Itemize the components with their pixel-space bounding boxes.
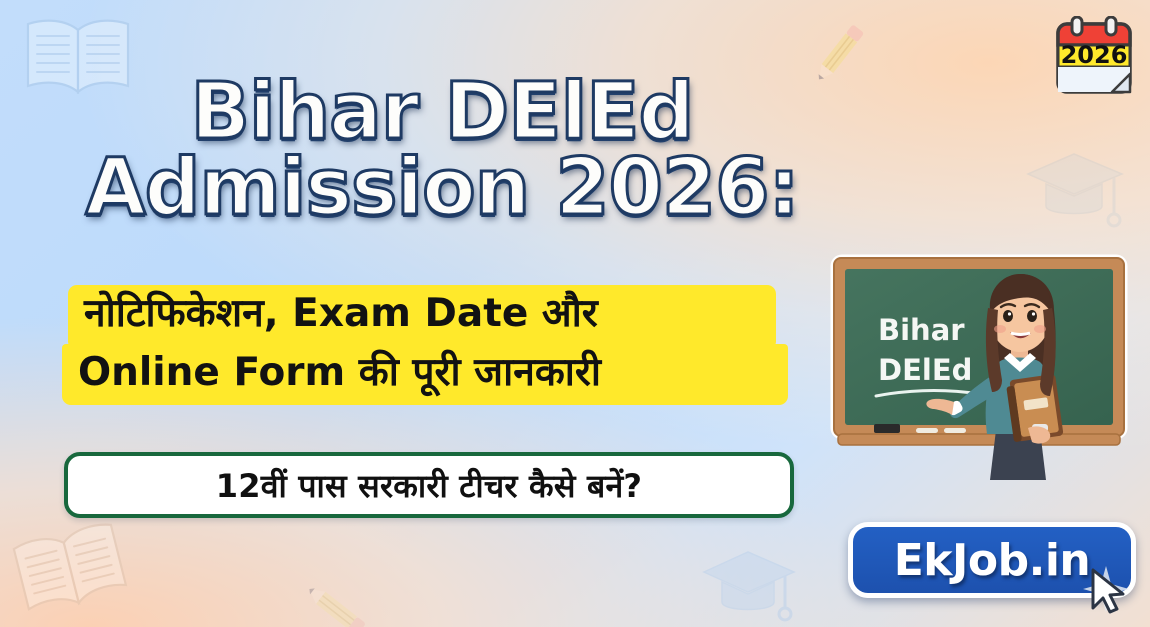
poster-canvas: Bihar DElEd Admission 2026: नोटिफिकेशन, … — [0, 0, 1150, 627]
highlight-block: नोटिफिकेशन, Exam Date और Online Form की … — [62, 285, 798, 405]
highlight-line-1: नोटिफिकेशन, Exam Date और — [68, 285, 776, 346]
brand-label: EkJob.in — [894, 535, 1091, 586]
calendar-icon: 2026 — [1052, 16, 1136, 98]
blackboard-illustration: Bihar DElEd — [828, 252, 1138, 482]
highlight-line-2: Online Form की पूरी जानकारी — [62, 344, 788, 405]
blackboard-text-line-2: DElEd — [878, 353, 972, 387]
page-title: Bihar DElEd Admission 2026: — [52, 74, 832, 227]
graduation-cap-icon — [690, 530, 806, 626]
page-title-line-2: Admission 2026: — [52, 150, 832, 226]
pencil-icon — [292, 566, 378, 627]
open-book-icon — [0, 507, 139, 627]
graduation-cap-icon — [1008, 128, 1140, 236]
calendar-year-text: 2026 — [1061, 41, 1128, 69]
mouse-cursor-icon — [1075, 560, 1137, 622]
subheading-text: 12वीं पास सरकारी टीचर कैसे बनें? — [216, 464, 642, 507]
subheading-pill: 12वीं पास सरकारी टीचर कैसे बनें? — [64, 452, 794, 518]
blackboard-text-line-1: Bihar — [878, 313, 965, 347]
